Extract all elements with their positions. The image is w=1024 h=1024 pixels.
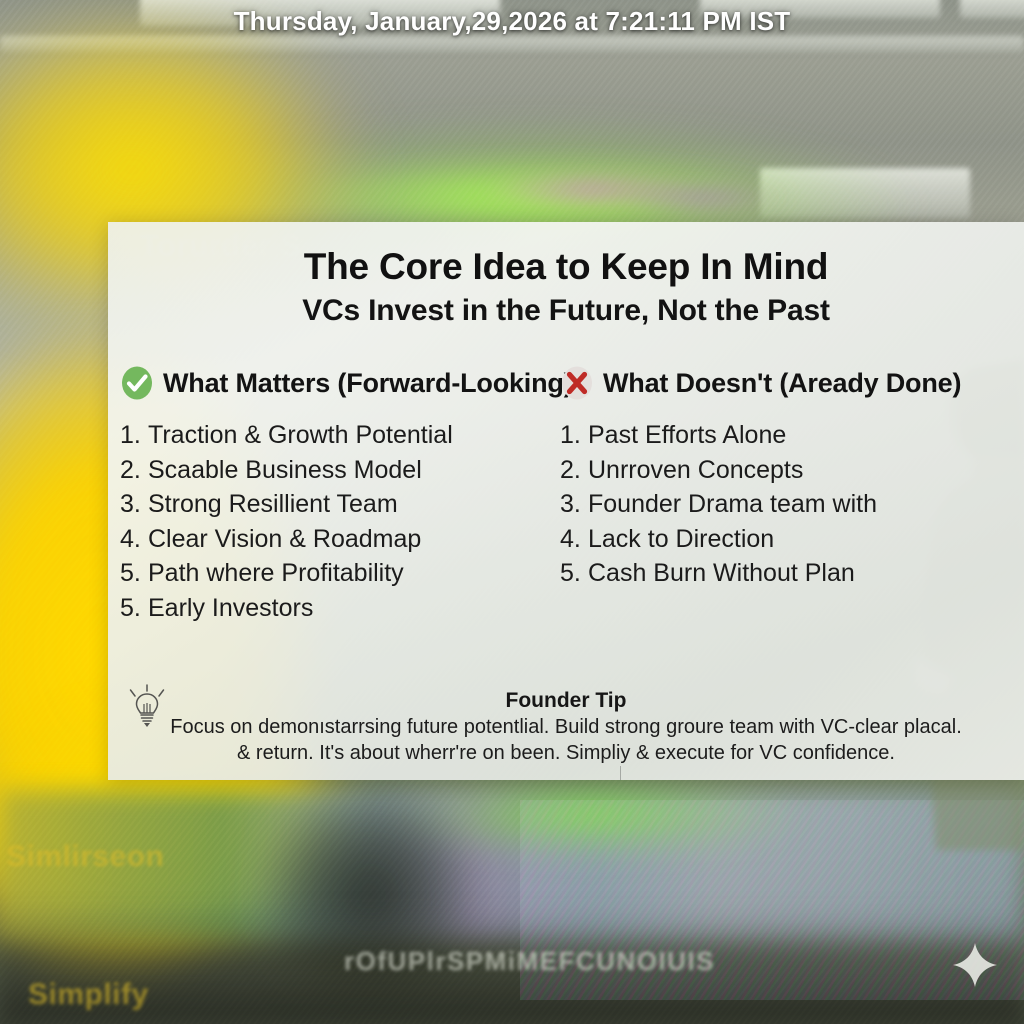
list-item-label: Traction & Growth Potential [148, 421, 453, 449]
list-item-number: 2. [120, 453, 148, 488]
list-item: 4.Clear Vision & Roadmap [120, 522, 560, 557]
check-circle-icon [120, 365, 154, 401]
list-item: 2.Scaable Business Model [120, 453, 560, 488]
list-item-number: 5. [120, 556, 148, 591]
ghost-text-left-lower: Simplify [28, 978, 149, 1012]
list-item: 3.Founder Drama team with [560, 487, 1024, 522]
column-header: What Matters (Forward-Looking) [120, 362, 560, 404]
founder-tip-section: Founder Tip Focus on demonıstarrsing fut… [108, 689, 1024, 766]
column-header-label: What Matters (Forward-Looking) [163, 368, 572, 399]
screenshot-root: Simlirseon Simplify rOfUPlrSPMiMEFCUNOIU… [0, 0, 1024, 1024]
lightbulb-icon [128, 684, 166, 730]
list-item-number: 1. [560, 418, 588, 453]
list-item-number: 3. [120, 487, 148, 522]
list-item-number: 4. [120, 522, 148, 557]
column-what-matters: What Matters (Forward-Looking) 1.Tractio… [108, 362, 560, 625]
list-item: 5.Early Investors [120, 591, 560, 626]
list-item-label: Early Investors [148, 594, 313, 622]
page-title: The Core Idea to Keep In Mind [108, 246, 1024, 288]
list-item-label: Cash Burn Without Plan [588, 559, 855, 587]
column-header: What Doesn't (Aready Done) [560, 362, 1024, 404]
page-subtitle: VCs Invest in the Future, Not the Past [108, 294, 1024, 328]
list-item-number: 1. [120, 418, 148, 453]
column-what-doesnt: What Doesn't (Aready Done) 1.Past Effort… [560, 362, 1024, 625]
list-item-number: 4. [560, 522, 588, 557]
comparison-columns: What Matters (Forward-Looking) 1.Tractio… [108, 362, 1024, 625]
list-item-number: 2. [560, 453, 588, 488]
list-item-number: 5. [120, 591, 148, 626]
list-item-label: Lack to Direction [588, 525, 774, 553]
founder-tip-line-2: & return. It's about wherr're on been. S… [126, 740, 1006, 766]
list-item-label: Founder Drama team with [588, 490, 877, 518]
list-item-label: Clear Vision & Roadmap [148, 525, 421, 553]
list-item: 3.Strong Resillient Team [120, 487, 560, 522]
list-item-label: Path where Profitability [148, 559, 404, 587]
list-what-matters: 1.Traction & Growth Potential 2.Scaable … [120, 418, 560, 625]
list-item-label: Strong Resillient Team [148, 490, 398, 518]
column-header-label: What Doesn't (Aready Done) [603, 368, 961, 399]
list-item: 5.Cash Burn Without Plan [560, 556, 1024, 591]
footer-divider [620, 766, 621, 780]
list-item-number: 3. [560, 487, 588, 522]
timestamp-label: Thursday, January,29,2026 at 7:21:11 PM … [0, 6, 1024, 37]
founder-tip-title: Founder Tip [126, 689, 1006, 713]
list-item-label: Unrroven Concepts [588, 456, 803, 484]
list-item: 2.Unrroven Concepts [560, 453, 1024, 488]
list-item: 5.Path where Profitability [120, 556, 560, 591]
list-item-label: Scaable Business Model [148, 456, 422, 484]
list-item: 1.Past Efforts Alone [560, 418, 1024, 453]
list-item: 1.Traction & Growth Potential [120, 418, 560, 453]
content-card: The Core Idea to Keep In Mind VCs Invest… [108, 222, 1024, 780]
founder-tip-line-1: Focus on demonıstarrsing future potentli… [126, 714, 1006, 740]
x-circle-icon [560, 365, 594, 401]
ghost-text-left-upper: Simlirseon [6, 840, 164, 874]
sparkle-icon [952, 942, 998, 988]
list-item-label: Past Efforts Alone [588, 421, 786, 449]
list-what-doesnt: 1.Past Efforts Alone 2.Unrroven Concepts… [560, 418, 1024, 591]
background-watermark-text: rOfUPlrSPMiMEFCUNOIUIS [344, 946, 715, 977]
list-item: 4.Lack to Direction [560, 522, 1024, 557]
list-item-number: 5. [560, 556, 588, 591]
